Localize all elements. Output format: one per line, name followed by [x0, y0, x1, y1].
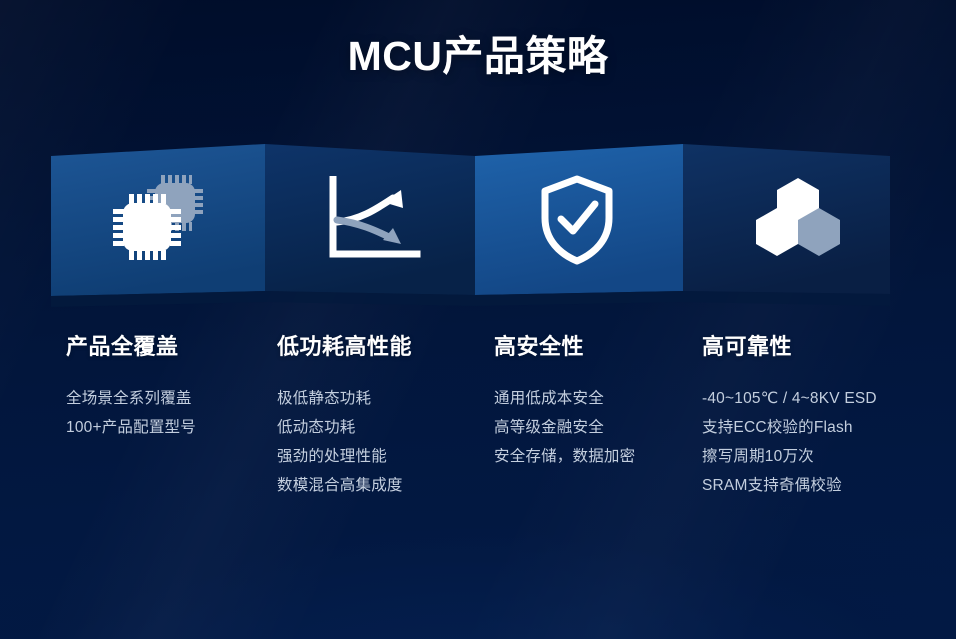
- list-item: 强劲的处理性能: [277, 442, 412, 471]
- list-item: -40~105℃ / 4~8KV ESD: [702, 384, 877, 413]
- panel-shape-low-power: [265, 144, 475, 295]
- column-item-list: 全场景全系列覆盖 100+产品配置型号: [66, 384, 196, 442]
- list-item: 全场景全系列覆盖: [66, 384, 196, 413]
- column-item-list: 极低静态功耗 低动态功耗 强劲的处理性能 数模混合高集成度: [277, 384, 412, 500]
- feature-column-security: 高安全性 通用低成本安全 高等级金融安全 安全存储，数据加密: [494, 336, 635, 471]
- column-title: 高可靠性: [702, 336, 877, 358]
- feature-columns: 产品全覆盖 全场景全系列覆盖 100+产品配置型号 低功耗高性能 极低静态功耗 …: [0, 336, 956, 566]
- list-item: 高等级金融安全: [494, 413, 635, 442]
- column-item-list: -40~105℃ / 4~8KV ESD 支持ECC校验的Flash 擦写周期1…: [702, 384, 877, 500]
- column-title: 产品全覆盖: [66, 336, 196, 358]
- slide-background: MCU产品策略: [0, 0, 956, 639]
- column-title: 高安全性: [494, 336, 635, 358]
- list-item: 通用低成本安全: [494, 384, 635, 413]
- list-item: 数模混合高集成度: [277, 471, 412, 500]
- list-item: 极低静态功耗: [277, 384, 412, 413]
- list-item: SRAM支持奇偶校验: [702, 471, 877, 500]
- list-item: 100+产品配置型号: [66, 413, 196, 442]
- page-title: MCU产品策略: [0, 22, 956, 82]
- feature-column-reliability: 高可靠性 -40~105℃ / 4~8KV ESD 支持ECC校验的Flash …: [702, 336, 877, 500]
- panel-shape-reliability: [683, 144, 890, 294]
- list-item: 低动态功耗: [277, 413, 412, 442]
- feature-column-low-power: 低功耗高性能 极低静态功耗 低动态功耗 强劲的处理性能 数模混合高集成度: [277, 336, 412, 500]
- column-item-list: 通用低成本安全 高等级金融安全 安全存储，数据加密: [494, 384, 635, 471]
- feature-panel-band: [0, 140, 956, 315]
- list-item: 擦写周期10万次: [702, 442, 877, 471]
- feature-column-product-coverage: 产品全覆盖 全场景全系列覆盖 100+产品配置型号: [66, 336, 196, 442]
- panel-shape-security: [475, 144, 683, 295]
- panel-shape-product-coverage: [51, 144, 265, 296]
- list-item: 支持ECC校验的Flash: [702, 413, 877, 442]
- list-item: 安全存储，数据加密: [494, 442, 635, 471]
- column-title: 低功耗高性能: [277, 336, 412, 358]
